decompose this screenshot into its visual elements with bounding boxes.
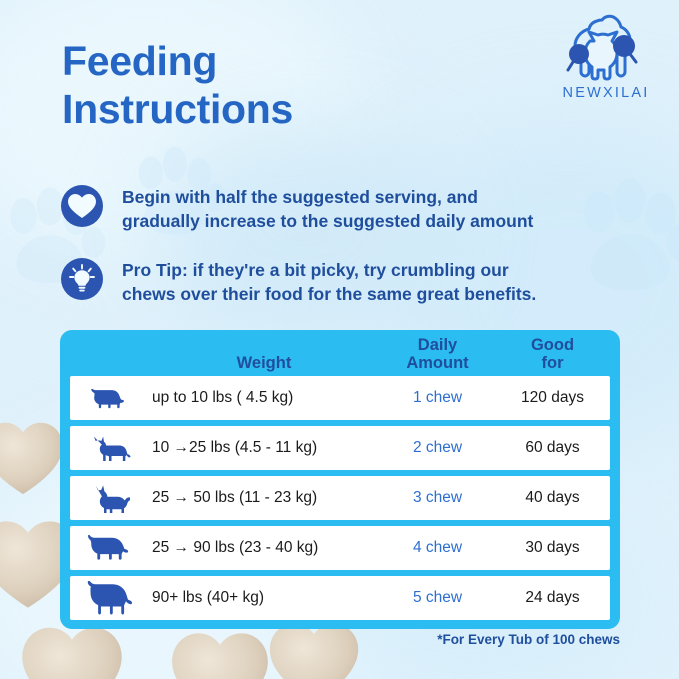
table-row: 25 → 50 lbs (11 - 23 kg) 3 chew 40 days [70,476,610,520]
row-weight: up to 10 lbs ( 4.5 kg) [148,389,380,407]
row-dog-icon-cell [70,581,148,615]
footnote: *For Every Tub of 100 chews [437,632,620,647]
row-dog-icon-cell [70,435,148,461]
row-good-for: 120 days [495,389,610,407]
page-title: Feeding Instructions [62,38,492,134]
bullet-line-1: Pro Tip: if they're a bit picky, try cru… [122,259,536,283]
retriever-dog-icon [85,534,133,562]
row-daily-amount: 1 chew [380,389,495,407]
small-dog-icon [89,387,129,409]
row-daily-amount: 3 chew [380,489,495,507]
row-daily-amount: 5 chew [380,589,495,607]
feeding-chart-table: Weight Daily Amount Good for up to 10 lb… [60,330,620,629]
row-good-for: 24 days [495,589,610,607]
row-good-for: 60 days [495,439,610,457]
table-row: 90+ lbs (40+ kg) 5 chew 24 days [70,576,610,620]
row-good-for: 30 days [495,539,610,557]
row-dog-icon-cell [70,483,148,513]
row-dog-icon-cell [70,387,148,409]
bullet-line-2: gradually increase to the suggested dail… [122,210,533,234]
table-row: up to 10 lbs ( 4.5 kg) 1 chew 120 days [70,376,610,420]
row-daily-amount: 4 chew [380,539,495,557]
bullet-line-1: Begin with half the suggested serving, a… [122,186,533,210]
lightbulb-icon [60,257,104,301]
row-weight: 90+ lbs (40+ kg) [148,589,380,607]
dog-and-cat-logo-icon [560,14,652,84]
row-dog-icon-cell [70,534,148,562]
spitz-dog-icon [88,483,130,513]
feeding-instructions-poster: Feeding Instructions NEWXILAI Begin with… [0,0,679,679]
brand-wordmark: NEWXILAI [545,85,667,101]
heart-treat-decor-icon [168,628,272,679]
large-dog-icon [85,581,133,615]
table-row: 25 → 90 lbs (23 - 40 kg) 4 chew 30 days [70,526,610,570]
brand-logo: NEWXILAI [545,14,667,106]
instruction-bullet-text: Begin with half the suggested serving, a… [122,184,533,234]
row-good-for: 40 days [495,489,610,507]
row-weight: 25 → 50 lbs (11 - 23 kg) [148,489,380,507]
row-weight: 25 → 90 lbs (23 - 40 kg) [148,539,380,557]
table-header-weight: Weight [148,355,380,373]
page-title-line-1: Feeding [62,38,492,86]
table-header-good-for: Good for [495,337,610,373]
page-title-line-2: Instructions [62,86,492,134]
heart-icon [60,184,104,228]
bullet-line-2: chews over their food for the same great… [122,283,536,307]
heart-treat-decor-icon [18,622,126,679]
instruction-bullet-text: Pro Tip: if they're a bit picky, try cru… [122,257,536,307]
table-header-daily-amount: Daily Amount [380,337,495,373]
instruction-bullet: Pro Tip: if they're a bit picky, try cru… [60,257,630,307]
row-daily-amount: 2 chew [380,439,495,457]
table-row: 10 →25 lbs (4.5 - 11 kg) 2 chew 60 days [70,426,610,470]
chihuahua-dog-icon [87,435,131,461]
instruction-bullet: Begin with half the suggested serving, a… [60,184,630,234]
table-header-row: Weight Daily Amount Good for [70,330,610,376]
row-weight: 10 →25 lbs (4.5 - 11 kg) [148,439,380,457]
heart-treat-decor-icon [0,418,66,498]
